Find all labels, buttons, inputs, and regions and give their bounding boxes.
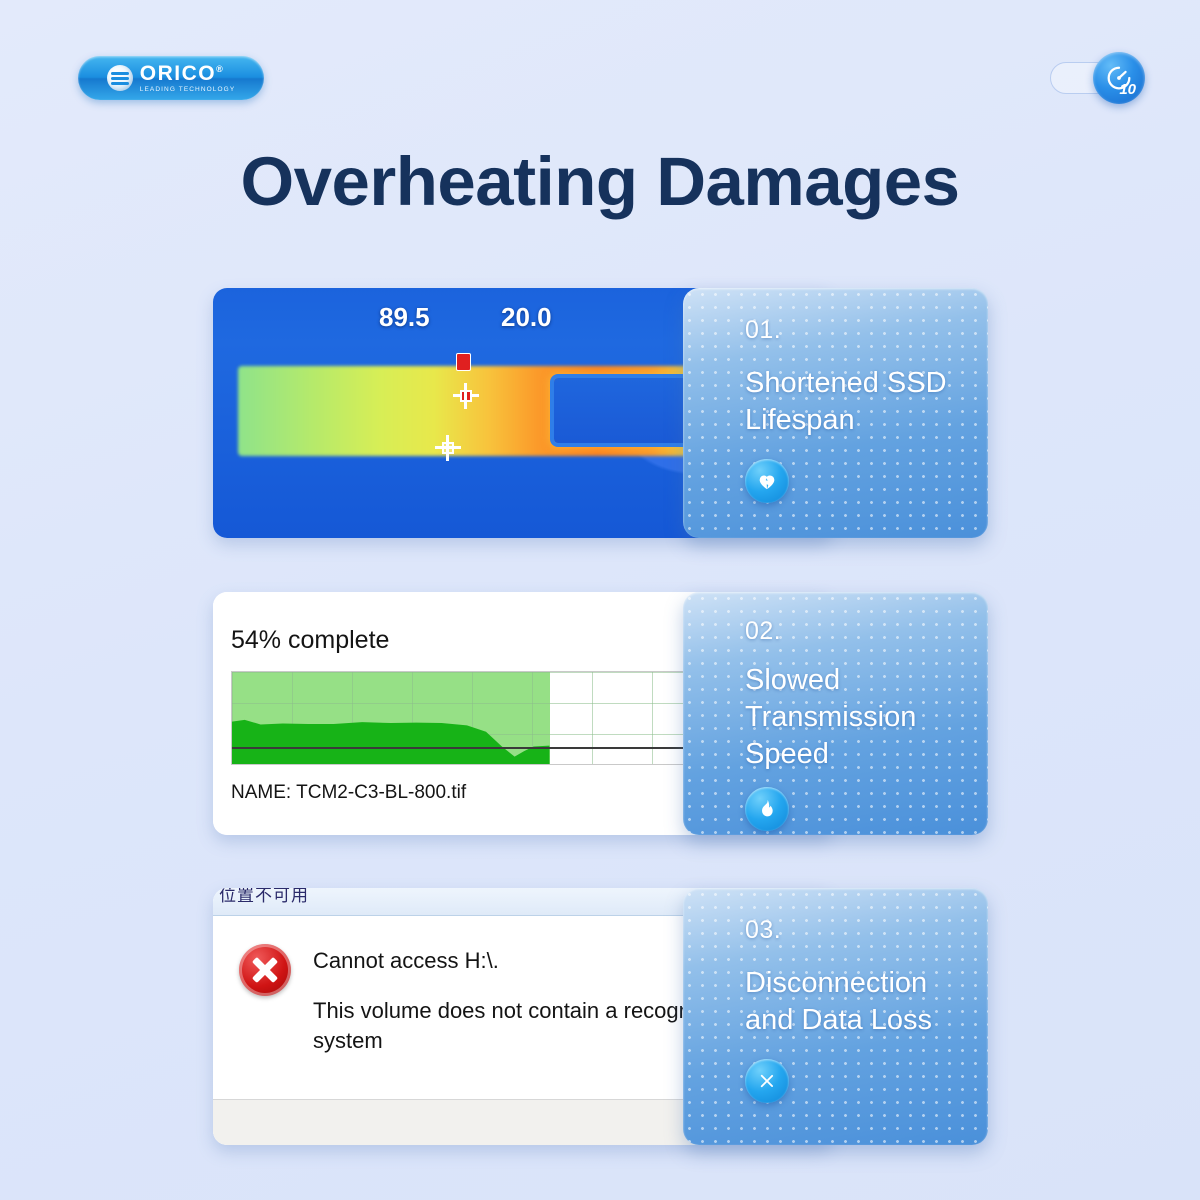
error-x-icon bbox=[239, 944, 291, 996]
speed-badge: 10 bbox=[1050, 52, 1145, 104]
badge-number: 10 bbox=[1119, 82, 1136, 97]
close-x-icon bbox=[745, 1059, 789, 1103]
card-title: Disconnection and Data Loss bbox=[745, 965, 968, 1039]
card-title: Shortened SSD Lifespan bbox=[745, 365, 968, 439]
broken-heart-icon bbox=[745, 459, 789, 503]
registered-mark-icon: ® bbox=[216, 64, 224, 74]
info-card-3[interactable]: 03. Disconnection and Data Loss bbox=[683, 888, 988, 1145]
orico-logo[interactable]: ORICO® LEADING TECHNOLOGY bbox=[78, 56, 264, 100]
flame-icon bbox=[745, 787, 789, 831]
info-card-1[interactable]: 01. Shortened SSD Lifespan bbox=[683, 288, 988, 538]
hot-spot-crosshair-icon bbox=[453, 383, 479, 409]
thermal-temp-max: 89.5 bbox=[379, 302, 430, 333]
logo-brand-name: ORICO® bbox=[140, 63, 236, 84]
card-title: Slowed Transmission Speed bbox=[745, 662, 968, 773]
info-card-2[interactable]: 02. Slowed Transmission Speed bbox=[683, 592, 988, 835]
card-number: 02. bbox=[745, 617, 968, 646]
cold-spot-crosshair-icon bbox=[435, 435, 461, 461]
hot-spot-flag-icon bbox=[456, 353, 471, 371]
card-number: 01. bbox=[745, 316, 968, 345]
damage-row-2: 54% complete Speed : 3 NAME: TCM2-C3-BL-… bbox=[213, 592, 988, 835]
damage-row-1: 89.5 20.0 74.4 01. Shortened SSD Lifespa… bbox=[213, 288, 988, 538]
file-name-label: NAME: bbox=[231, 782, 291, 803]
thermal-temp-min: 20.0 bbox=[501, 302, 552, 333]
damage-row-3: 位置不可用 Cannot access H:\. This volume doe… bbox=[213, 888, 988, 1145]
card-number: 03. bbox=[745, 916, 968, 945]
logo-tagline: LEADING TECHNOLOGY bbox=[140, 87, 236, 94]
error-dialog-title: 位置不可用 bbox=[219, 888, 309, 906]
orico-globe-icon bbox=[107, 65, 133, 91]
logo-text-block: ORICO® LEADING TECHNOLOGY bbox=[140, 63, 236, 94]
speedometer-icon: 10 bbox=[1093, 52, 1145, 104]
page-title: Overheating Damages bbox=[0, 142, 1200, 221]
thermal-cool-chip bbox=[554, 378, 697, 443]
file-name-value: TCM2-C3-BL-800.tif bbox=[296, 782, 466, 803]
